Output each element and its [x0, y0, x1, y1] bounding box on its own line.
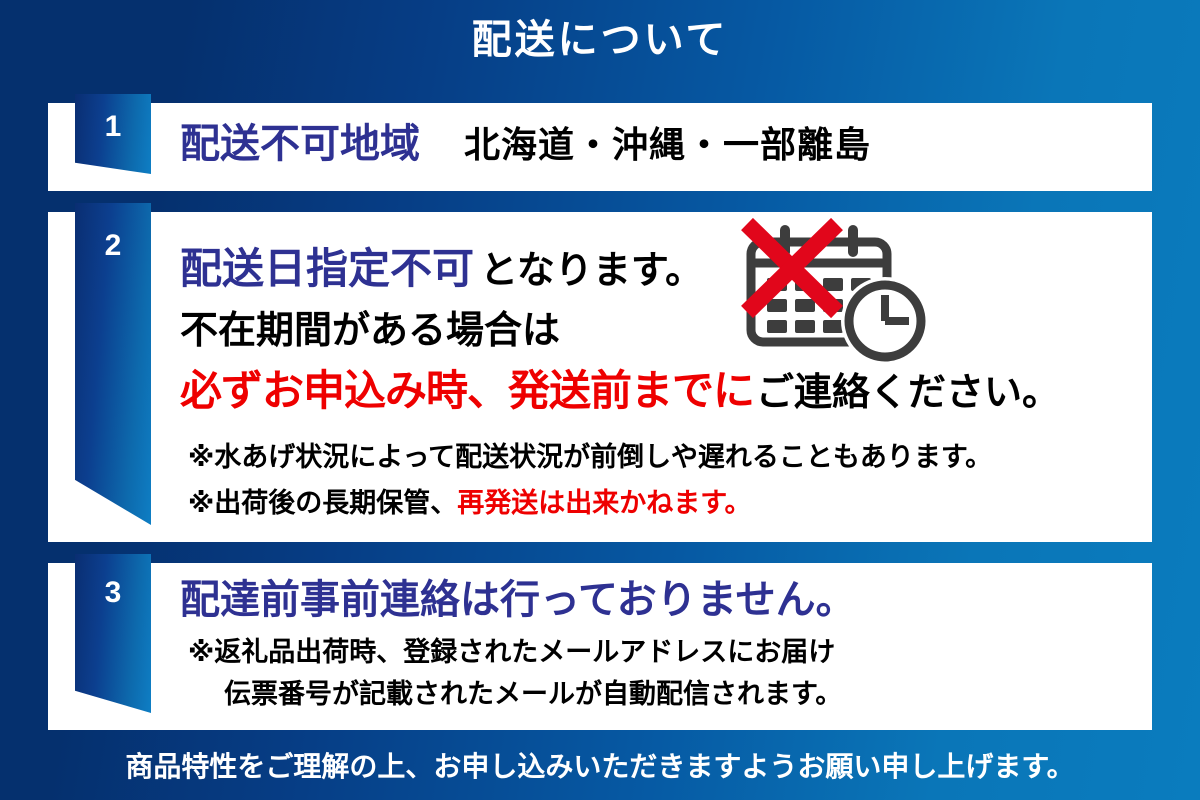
section-number-badge-1: 1	[75, 94, 151, 174]
section-2-note2-highlight: 再発送は出来かねます。	[457, 490, 751, 517]
section-2-note-2: ※出荷後の長期保管、 再発送は出来かねます。	[188, 490, 752, 517]
section-2-line-3: 必ずお申込み時、発送前までに ご連絡ください。	[180, 370, 1060, 412]
section-2-line1-tail: となります。	[480, 252, 703, 290]
page-title: 配送について	[0, 18, 1200, 62]
section-1-value: 北海道・沖縄・一部離島	[464, 127, 871, 163]
section-2-line-2: 不在期間がある場合は	[180, 312, 560, 350]
section-content-3: 配達前事前連絡は行っておりません。 ※返礼品出荷時、登録されたメールアドレスにお…	[180, 563, 1138, 730]
section-2-line-1: 配送日指定不可 となります。	[180, 248, 703, 290]
red-cross-overlay	[747, 224, 837, 312]
section-3-note-2: 伝票番号が記載されたメールが自動配信されます。	[224, 681, 842, 708]
section-2-line3-tail: ご連絡ください。	[756, 374, 1060, 412]
section-2-note2-prefix: ※出荷後の長期保管、	[188, 490, 457, 517]
section-2-line3-strong: 必ずお申込み時、発送前までに	[180, 370, 754, 412]
section-1-row: 配送不可地域 北海道・沖縄・一部離島	[180, 124, 871, 164]
calendar-clock-unavailable-icon	[733, 218, 945, 368]
section-3-note-1: ※返礼品出荷時、登録されたメールアドレスにお届け	[188, 639, 835, 666]
footer-note: 商品特性をご理解の上、お申し込みいただきますようお願い申し上げます。	[0, 745, 1200, 785]
section-card-2: 2 配送日指定不可 となります。 不在期間がある場合は 必ずお申込み時、発送前ま…	[48, 212, 1152, 542]
section-3-heading: 配達前事前連絡は行っておりません。	[180, 580, 856, 620]
section-2-note-1: ※水あげ状況によって配送状況が前倒しや遅れることもあります。	[188, 444, 992, 471]
shipping-info-poster: 配送について 1 配送不可地域 北海道・沖縄・一部離島 2 配送日指定不可 とな…	[0, 0, 1200, 800]
section-number-badge-2: 2	[75, 203, 151, 525]
section-card-3: 3 配達前事前連絡は行っておりません。 ※返礼品出荷時、登録されたメールアドレス…	[48, 563, 1152, 730]
section-2-line1-strong: 配送日指定不可	[180, 248, 474, 290]
section-content-2: 配送日指定不可 となります。 不在期間がある場合は 必ずお申込み時、発送前までに…	[180, 212, 1138, 542]
section-number-badge-3: 3	[75, 554, 151, 713]
section-card-1: 1 配送不可地域 北海道・沖縄・一部離島	[48, 103, 1152, 191]
section-1-heading: 配送不可地域	[180, 124, 420, 164]
section-content-1: 配送不可地域 北海道・沖縄・一部離島	[180, 103, 1138, 191]
